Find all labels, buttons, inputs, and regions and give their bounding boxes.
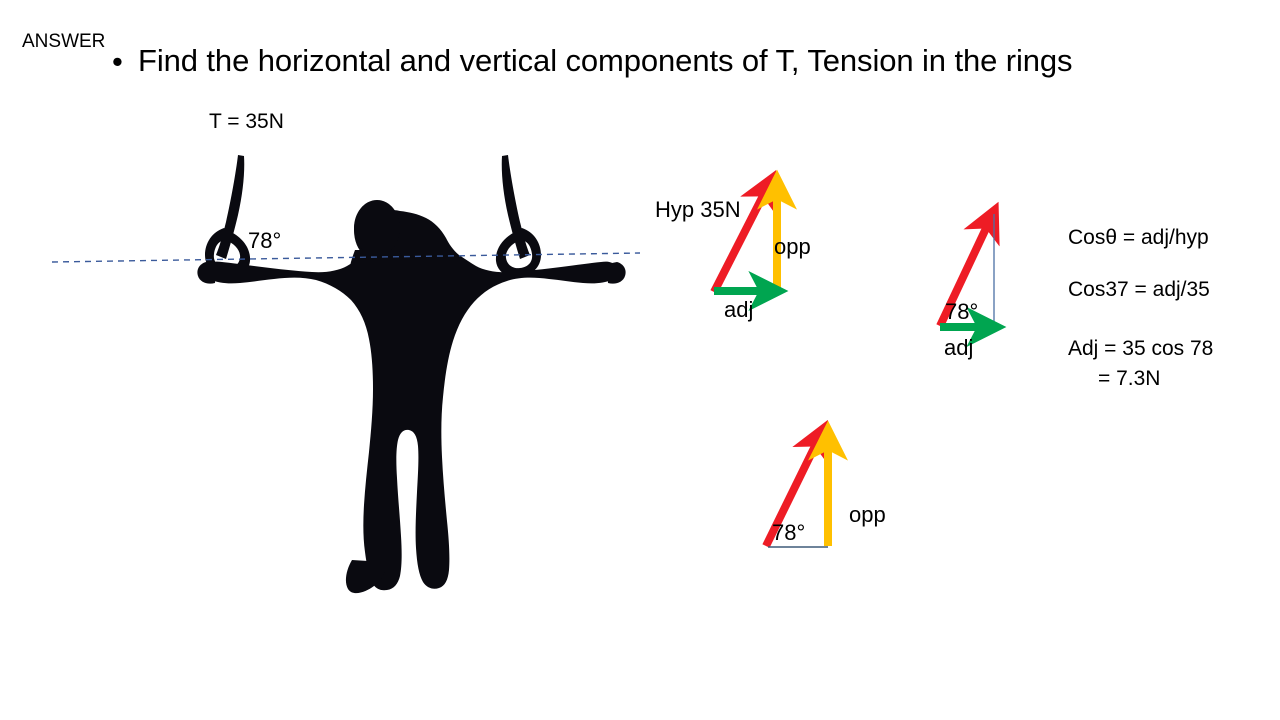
opposite-label-triangle-3: opp [849,503,886,527]
gymnast-rings-silhouette [197,155,625,593]
formula-line-cos-theta: Cosθ = adj/hyp [1068,226,1209,250]
page-title: Find the horizontal and vertical compone… [138,44,1072,78]
hypotenuse-label: Hyp 35N [655,198,741,222]
title-bullet-glyph: • [112,45,123,79]
slide-canvas: ANSWER • Find the horizontal and vertica… [0,0,1280,720]
answer-label: ANSWER [22,32,105,53]
formula-line-adj: Adj = 35 cos 78 [1068,337,1213,361]
angle-label-triangle-2: 78° [945,300,978,324]
formula-line-cos37: Cos37 = adj/35 [1068,278,1210,302]
formula-line-result: = 7.3N [1098,367,1160,391]
gymnast-angle-label: 78° [248,229,281,253]
angle-label-triangle-3: 78° [772,521,805,545]
opposite-label-triangle-1: opp [774,235,811,259]
adjacent-label-triangle-2: adj [944,336,973,360]
tension-value-label: T = 35N [209,110,284,133]
adjacent-label-triangle-1: adj [724,298,753,322]
horizontal-reference-dashed-line [52,253,640,262]
